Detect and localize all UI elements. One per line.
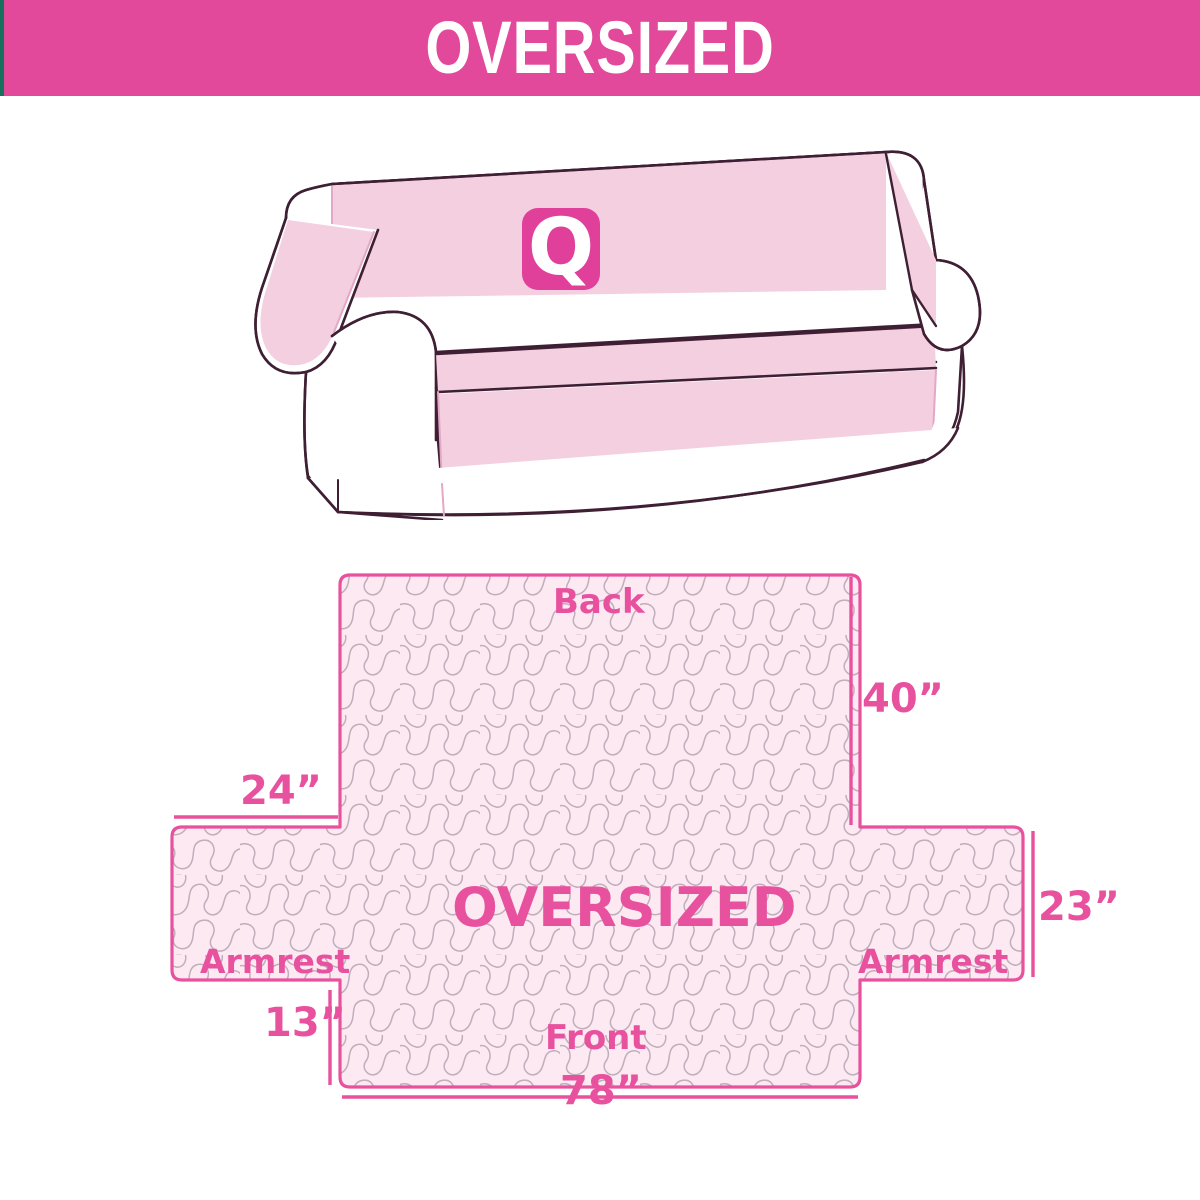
svg-text:Q: Q — [528, 203, 594, 293]
panel-label-back: Back — [553, 582, 645, 622]
header-edge-accent — [0, 0, 4, 96]
page-title: OVERSIZED — [120, 0, 1080, 96]
dimension-label-front-height: 13” — [264, 1000, 346, 1046]
panel-label-armrest-right: Armrest — [858, 942, 1008, 981]
dimension-label-total-width: 78” — [560, 1068, 642, 1114]
diagram-center-label: OVERSIZED — [452, 876, 797, 939]
sofa-illustration: Q — [246, 140, 986, 520]
panel-label-armrest-left: Armrest — [200, 942, 350, 981]
dimension-label-armrest-height: 23” — [1038, 884, 1120, 930]
dimension-label-armrest-width: 24” — [240, 768, 322, 814]
panel-label-front: Front — [545, 1018, 647, 1058]
header-banner: OVERSIZED — [0, 0, 1200, 96]
dimension-label-back-height: 40” — [862, 676, 944, 722]
brand-badge: Q — [522, 203, 600, 293]
